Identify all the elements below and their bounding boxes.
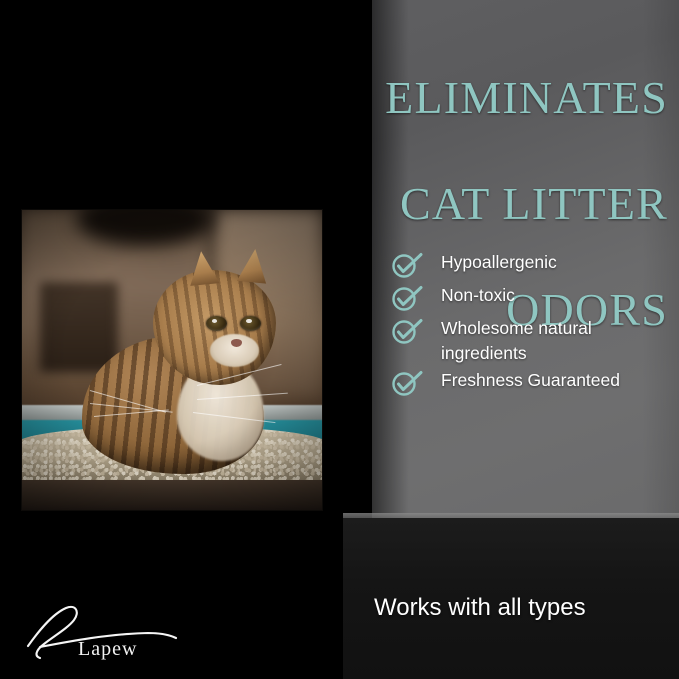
kitten-litter-box-photo bbox=[22, 210, 322, 510]
benefits-list: Hypoallergenic Non-toxic Wholesome natur… bbox=[390, 250, 670, 401]
benefit-label: Non-toxic bbox=[441, 283, 670, 308]
check-circle-icon bbox=[390, 251, 424, 279]
benefit-label: Hypoallergenic bbox=[441, 250, 670, 275]
benefit-item: Wholesome natural ingredients bbox=[390, 316, 670, 366]
benefit-item: Non-toxic bbox=[390, 283, 670, 314]
benefit-label: Freshness Guaranteed bbox=[441, 368, 670, 393]
brand-name: Lapew bbox=[78, 638, 137, 661]
headline-line-1: ELIMINATES bbox=[300, 71, 668, 124]
benefit-item: Hypoallergenic bbox=[390, 250, 670, 281]
benefit-item: Freshness Guaranteed bbox=[390, 368, 670, 399]
callout-panel: Works with all types of cat litter! bbox=[343, 518, 679, 679]
callout-text: Works with all types of cat litter! bbox=[374, 546, 664, 679]
headline-line-2: CAT LITTER bbox=[300, 177, 668, 230]
callout-line-1: Works with all types bbox=[374, 594, 586, 621]
check-circle-icon bbox=[390, 317, 424, 345]
brand-logo: Lapew bbox=[26, 602, 196, 666]
benefit-label: Wholesome natural ingredients bbox=[441, 316, 670, 366]
product-ad-image: ELIMINATES CAT LITTER ODORS bbox=[0, 0, 679, 679]
check-circle-icon bbox=[390, 284, 424, 312]
check-circle-icon bbox=[390, 369, 424, 397]
photo-vignette bbox=[22, 210, 322, 510]
